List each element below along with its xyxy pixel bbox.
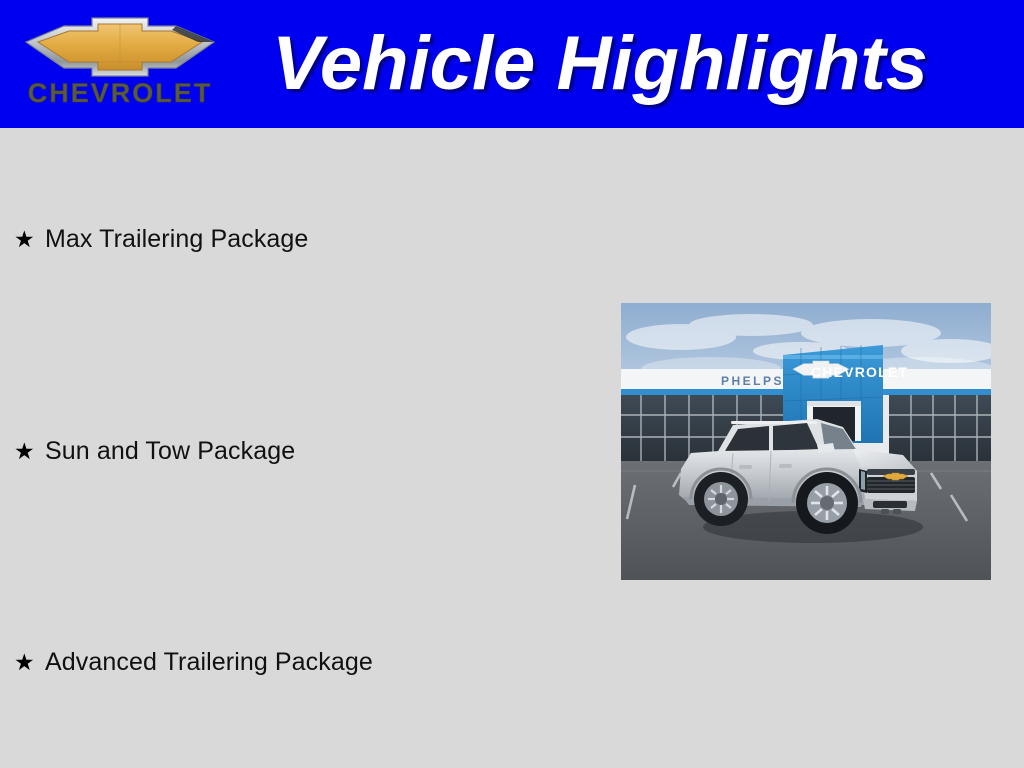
- star-icon: ★: [14, 645, 45, 679]
- list-item: ★ Sun and Tow Package: [14, 434, 295, 468]
- chevrolet-bowtie-icon: [22, 16, 218, 78]
- highlights-list: ★ Max Trailering Package ★ Sun and Tow P…: [0, 128, 620, 768]
- list-item-label: Advanced Trailering Package: [45, 645, 373, 679]
- list-item-label: Sun and Tow Package: [45, 434, 295, 468]
- chevrolet-logo-block: CHEVROLET: [22, 16, 222, 116]
- svg-text:PHELPS: PHELPS: [721, 374, 784, 388]
- star-icon: ★: [14, 222, 45, 256]
- list-item: ★ Max Trailering Package: [14, 222, 308, 256]
- vehicle-photo: PHELPS CHEVROLET: [621, 303, 991, 580]
- chevrolet-wordmark: CHEVROLET: [24, 78, 216, 108]
- list-item: ★ Advanced Trailering Package: [14, 645, 373, 679]
- header-banner: CHEVROLET Vehicle Highlights: [0, 0, 1024, 128]
- list-item-label: Max Trailering Package: [45, 222, 308, 256]
- svg-text:CHEVROLET: CHEVROLET: [811, 364, 908, 380]
- slide-canvas: CHEVROLET Vehicle Highlights ★ Max Trail…: [0, 0, 1024, 768]
- star-icon: ★: [14, 434, 45, 468]
- page-title: Vehicle Highlights: [272, 14, 1002, 114]
